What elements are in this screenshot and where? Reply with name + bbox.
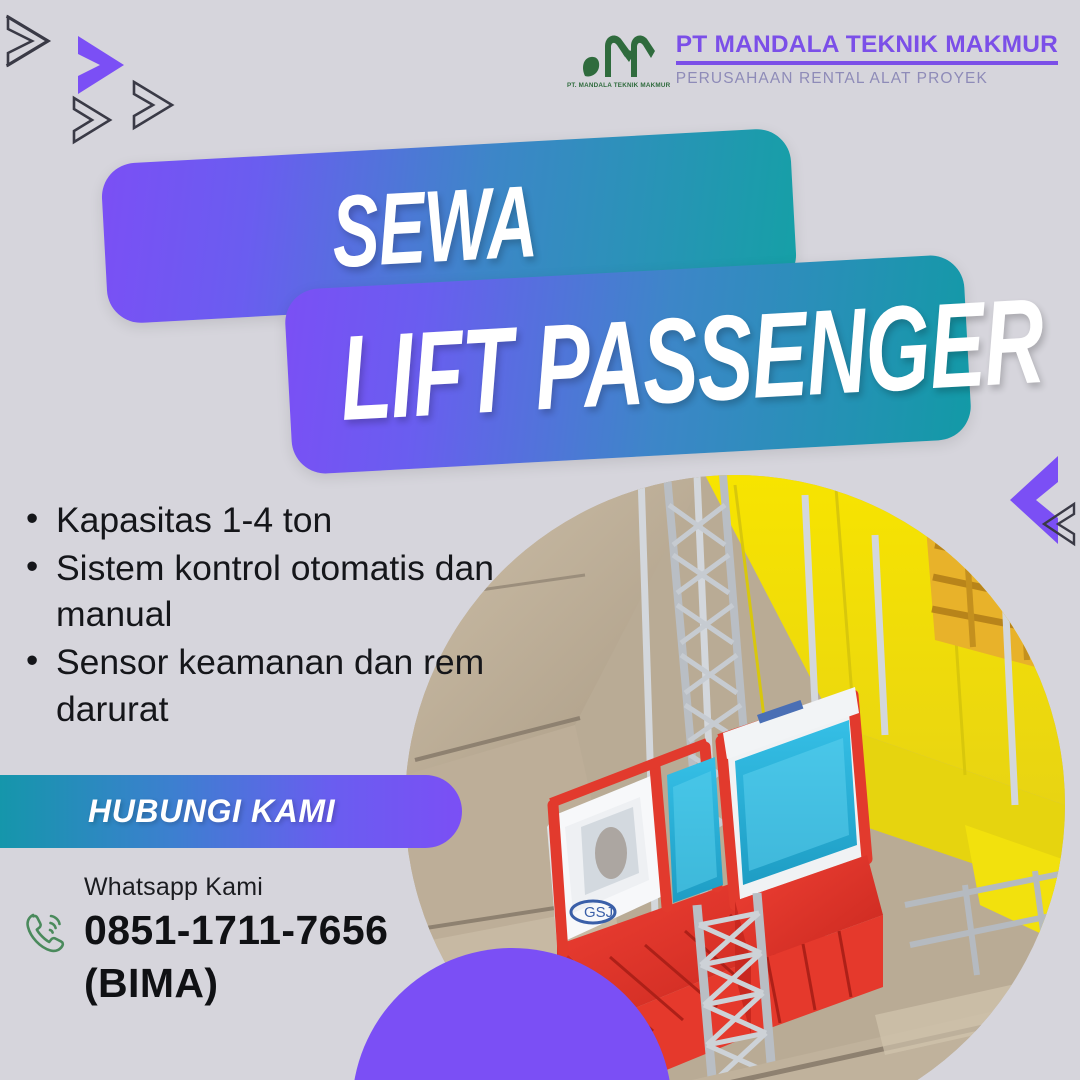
svg-text:GSJ: GSJ xyxy=(584,904,613,921)
chevron-outline-icon-4 xyxy=(1036,500,1080,548)
contact-block: Whatsapp Kami 0851-1711-7656 (BIMA) xyxy=(20,872,388,1009)
bullet-icon: • xyxy=(26,545,56,589)
chevron-outline-icon-1 xyxy=(2,12,56,70)
whatsapp-label: Whatsapp Kami xyxy=(84,872,388,903)
phone-number[interactable]: 0851-1711-7656 xyxy=(84,904,388,956)
bullet-icon: • xyxy=(26,497,56,541)
contact-person: (BIMA) xyxy=(84,957,388,1009)
headline-line-1: SEWA xyxy=(329,162,539,291)
poster-canvas: PT. MANDALA TEKNIK MAKMUR PT MANDALA TEK… xyxy=(0,0,1080,1080)
company-logo: PT. MANDALA TEKNIK MAKMUR xyxy=(578,30,660,89)
chevron-solid-icon xyxy=(72,32,134,98)
logo-caption: PT. MANDALA TEKNIK MAKMUR xyxy=(567,82,670,89)
chevron-outline-icon-3 xyxy=(128,78,180,132)
feature-text: Sensor keamanan dan rem darurat xyxy=(56,639,586,731)
feature-item: • Sistem kontrol otomatis dan manual xyxy=(26,545,586,637)
headline-banner-secondary: LIFT PASSENGER xyxy=(283,254,972,476)
brand-underline xyxy=(676,61,1058,65)
headline-line-2: LIFT PASSENGER xyxy=(337,273,1047,449)
company-name: PT MANDALA TEKNIK MAKMUR xyxy=(676,32,1058,58)
feature-item: • Kapasitas 1-4 ton xyxy=(26,497,586,543)
feature-text: Sistem kontrol otomatis dan manual xyxy=(56,545,586,637)
phone-call-icon xyxy=(20,906,72,958)
contact-lines: Whatsapp Kami 0851-1711-7656 (BIMA) xyxy=(84,872,388,1009)
bullet-icon: • xyxy=(26,639,56,683)
company-m-logo-icon xyxy=(579,30,659,80)
brand-header: PT. MANDALA TEKNIK MAKMUR PT MANDALA TEK… xyxy=(578,30,1058,89)
contact-cta-banner[interactable]: HUBUNGI KAMI xyxy=(0,775,462,848)
feature-list: • Kapasitas 1-4 ton • Sistem kontrol oto… xyxy=(26,497,586,734)
chevron-outline-icon-2 xyxy=(68,94,118,146)
brand-text-block: PT MANDALA TEKNIK MAKMUR PERUSAHAAN RENT… xyxy=(676,32,1058,88)
feature-text: Kapasitas 1-4 ton xyxy=(56,497,586,543)
feature-item: • Sensor keamanan dan rem darurat xyxy=(26,639,586,731)
cta-label: HUBUNGI KAMI xyxy=(88,793,335,830)
company-tagline: PERUSAHAAN RENTAL ALAT PROYEK xyxy=(676,70,1058,87)
